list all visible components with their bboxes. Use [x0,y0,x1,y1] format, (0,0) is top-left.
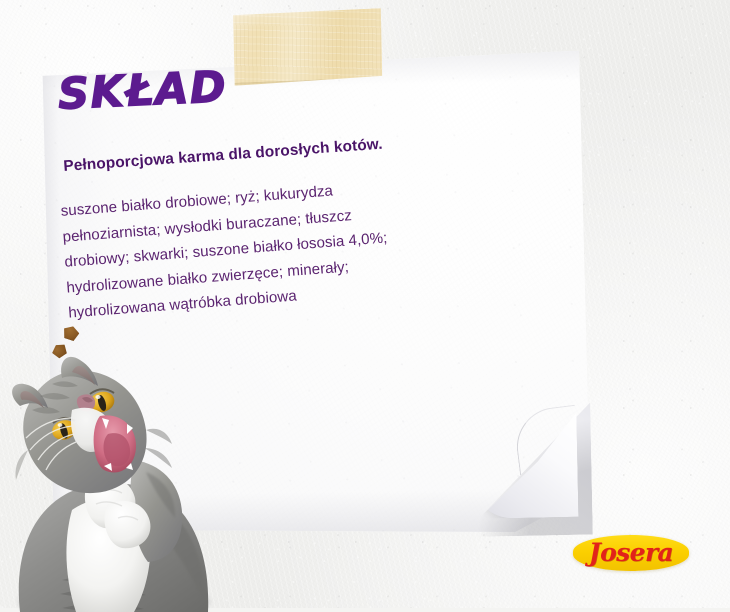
logo-wordmark: Josera [573,534,689,570]
josera-logo: Josera [573,535,689,571]
page-title: SKŁAD [57,62,228,120]
masking-tape-strip [232,8,383,86]
cat-photo [0,352,232,612]
cat-illustration [0,352,232,612]
tape-fiber-texture [232,8,383,86]
